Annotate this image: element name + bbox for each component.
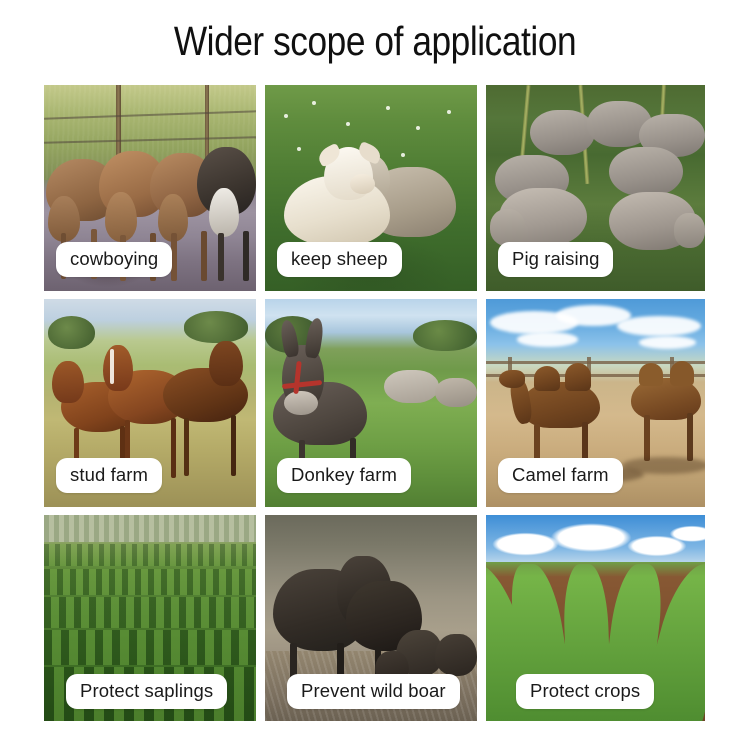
gallery-cell-pig-raising[interactable]: Pig raising	[486, 85, 705, 291]
caption-chip: Protect saplings	[66, 674, 227, 709]
caption-chip: Protect crops	[516, 674, 654, 709]
gallery-cell-camel-farm[interactable]: Camel farm	[486, 299, 705, 507]
gallery-cell-keep-sheep[interactable]: keep sheep	[265, 85, 477, 291]
caption-chip: Camel farm	[498, 458, 623, 493]
application-gallery-grid: cowboying	[44, 85, 706, 714]
page-title: Wider scope of application	[53, 18, 698, 65]
caption-chip: keep sheep	[277, 242, 402, 277]
gallery-cell-prevent-wild-boar[interactable]: Prevent wild boar	[265, 515, 477, 721]
gallery-cell-stud-farm[interactable]: stud farm	[44, 299, 256, 507]
caption-chip: Prevent wild boar	[287, 674, 460, 709]
caption-chip: Pig raising	[498, 242, 613, 277]
gallery-cell-donkey-farm[interactable]: Donkey farm	[265, 299, 477, 507]
caption-chip: stud farm	[56, 458, 162, 493]
gallery-cell-cowboying[interactable]: cowboying	[44, 85, 256, 291]
gallery-cell-protect-crops[interactable]: Protect crops	[486, 515, 705, 721]
gallery-cell-protect-saplings[interactable]: Protect saplings	[44, 515, 256, 721]
promo-banner: Wider scope of application	[0, 0, 750, 750]
caption-chip: cowboying	[56, 242, 172, 277]
caption-chip: Donkey farm	[277, 458, 411, 493]
